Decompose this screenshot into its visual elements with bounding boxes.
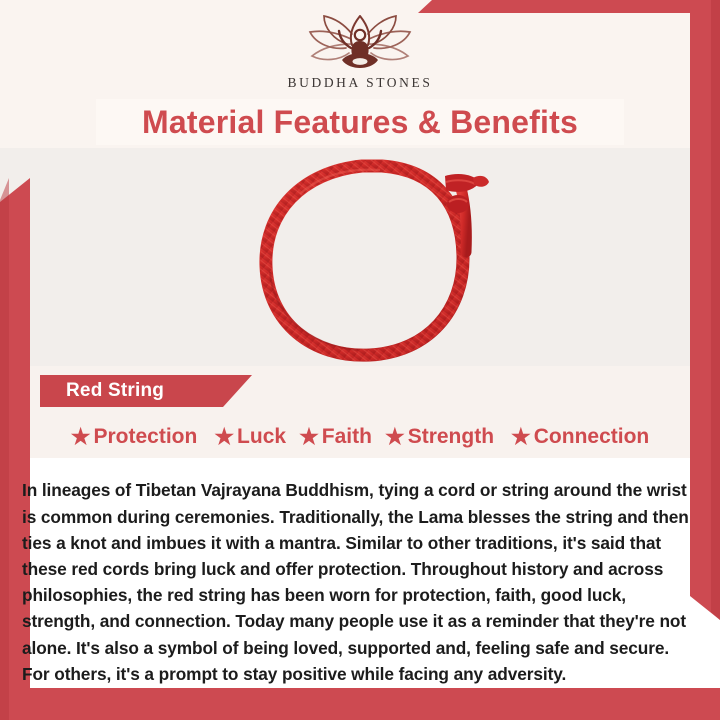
star-icon: ★ — [214, 426, 234, 448]
star-icon: ★ — [299, 426, 319, 448]
brand-logo: BUDDHA STONES — [0, 14, 720, 91]
product-name-label: Red String — [66, 380, 164, 402]
benefit-item-protection: ★ Protection — [71, 425, 198, 449]
page-title: Material Features & Benefits — [142, 106, 578, 138]
benefit-item-strength: ★ Strength — [385, 425, 494, 449]
product-name-tab: Red String — [40, 375, 252, 407]
star-icon: ★ — [385, 426, 405, 448]
benefit-label: Connection — [534, 425, 650, 449]
benefit-item-faith: ★ Faith — [299, 425, 372, 449]
infographic-page: BUDDHA STONES Material Features & Benefi… — [0, 0, 720, 720]
title-banner: Material Features & Benefits — [96, 99, 624, 145]
frame-bar-top-right — [418, 0, 720, 13]
frame-bar-bottom — [0, 688, 720, 720]
description-text: In lineages of Tibetan Vajrayana Buddhis… — [22, 477, 694, 687]
benefit-label: Faith — [322, 425, 372, 449]
lotus-meditation-icon — [0, 14, 720, 72]
benefit-item-connection: ★ Connection — [511, 425, 649, 449]
frame-bar-right-shadow — [711, 0, 720, 620]
benefit-label: Luck — [237, 425, 286, 449]
brand-name: BUDDHA STONES — [0, 75, 720, 91]
product-image — [230, 152, 500, 374]
benefit-item-luck: ★ Luck — [214, 425, 286, 449]
star-icon: ★ — [71, 426, 91, 448]
star-icon: ★ — [511, 426, 531, 448]
benefit-label: Protection — [93, 425, 197, 449]
benefit-label: Strength — [408, 425, 494, 449]
benefits-row: ★ Protection ★ Luck ★ Faith ★ Strength ★… — [0, 420, 720, 454]
